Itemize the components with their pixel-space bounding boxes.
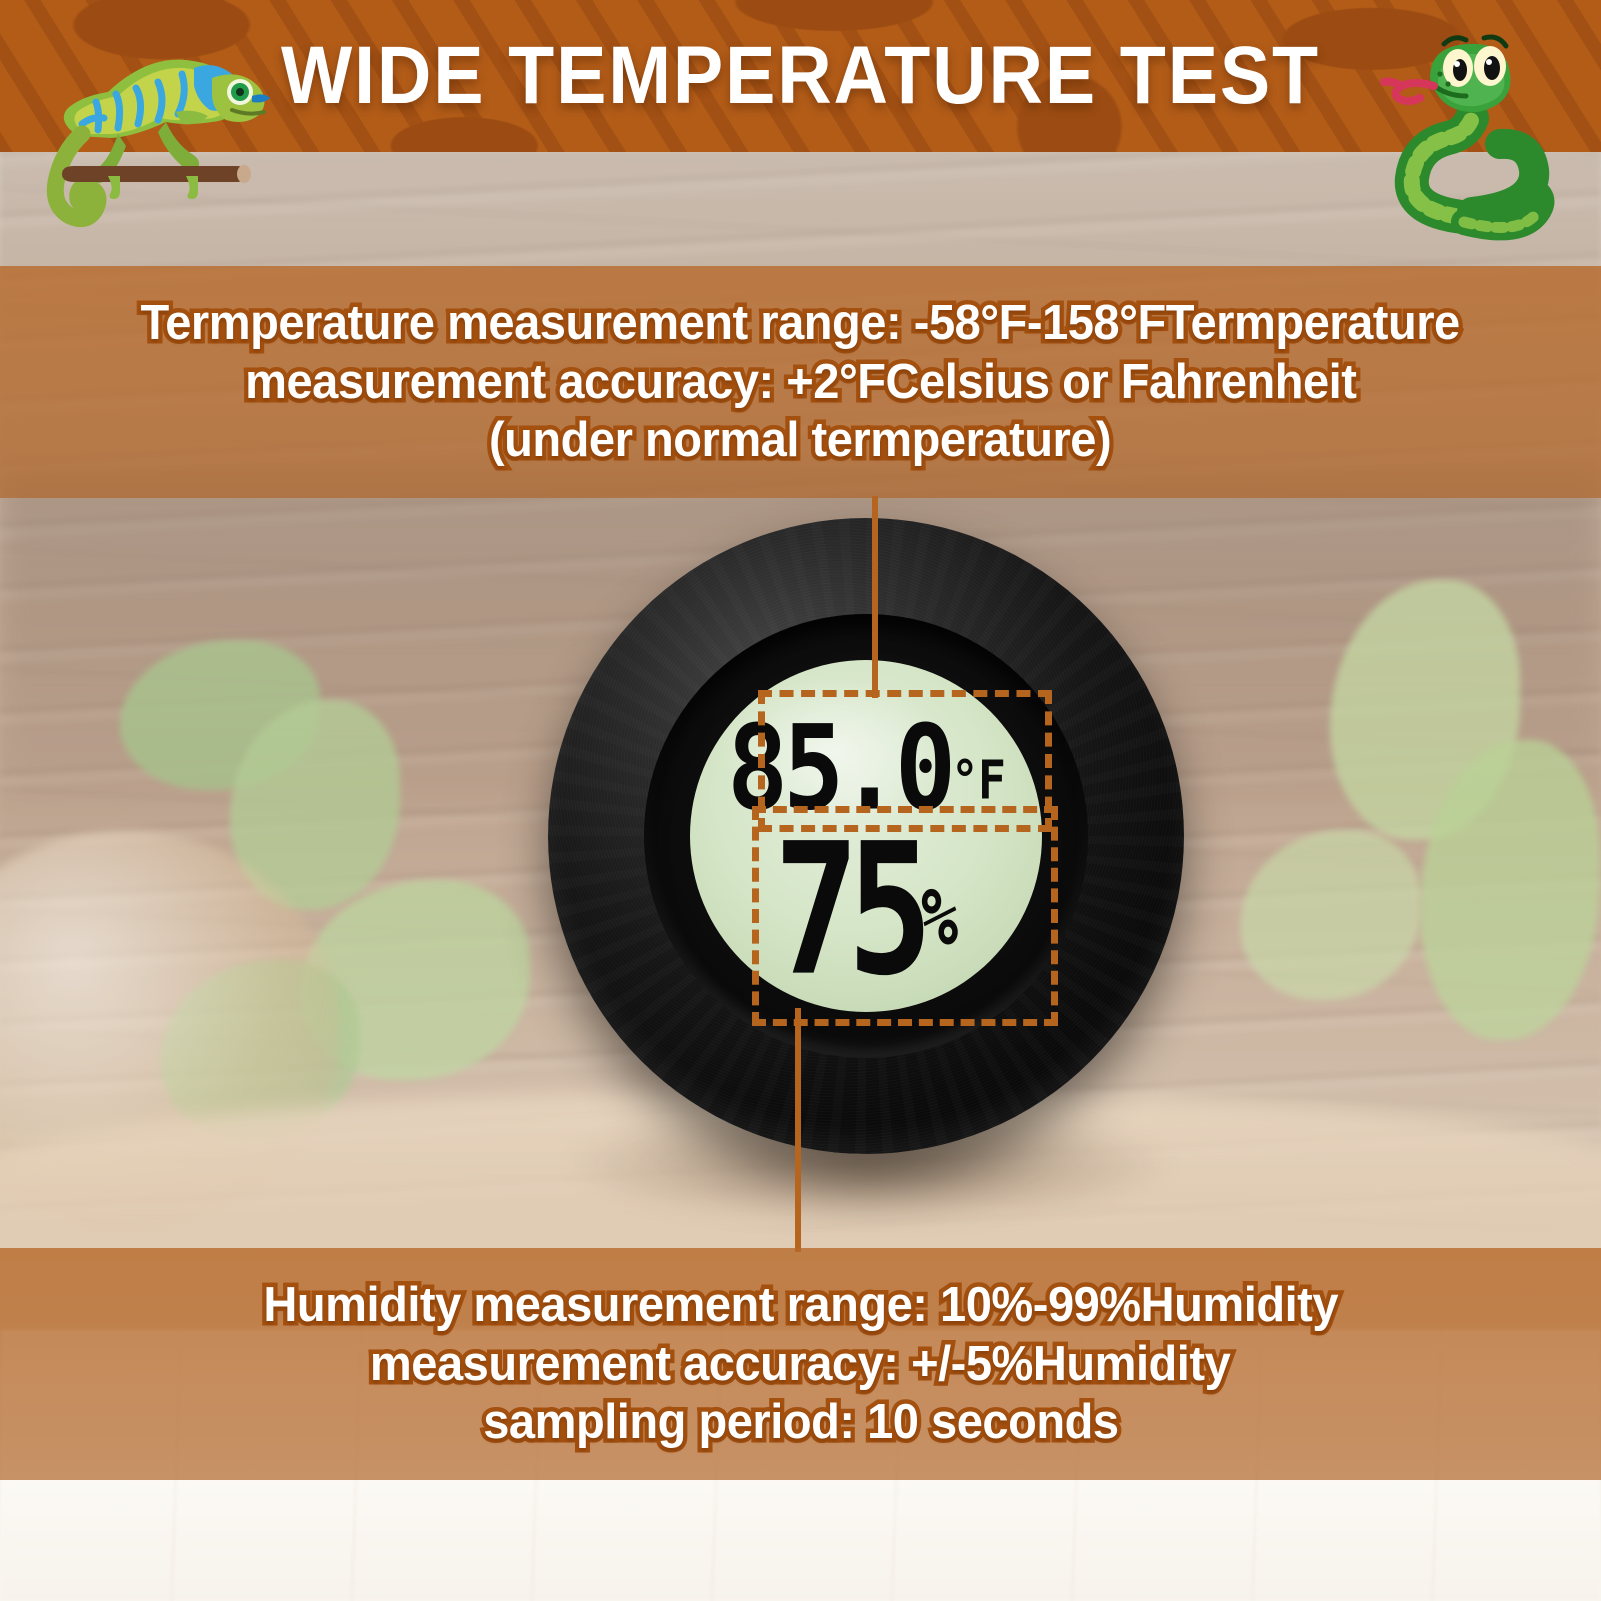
connector-line-to-humidity-text [795, 1008, 801, 1252]
infographic-page: 85.0°F 75% Termperature measurement rang… [0, 0, 1601, 1601]
humidity-spec-line-2: measurement accuracy: +/-5%Humidity [370, 1337, 1230, 1392]
humidity-readout-highlight [752, 806, 1058, 1026]
humidity-spec-band: Humidity measurement range: 10%-99%Humid… [0, 1248, 1601, 1480]
page-title: WIDE TEMPERATURE TEST [64, 0, 1537, 152]
temperature-spec-line-1: Termperature measurement range: -58°F-15… [141, 296, 1460, 351]
temperature-spec-line-2: measurement accuracy: +2°FCelsius or Fah… [245, 355, 1356, 410]
humidity-spec-line-3: sampling period: 10 seconds [483, 1395, 1118, 1450]
temperature-spec-band: Termperature measurement range: -58°F-15… [0, 266, 1601, 498]
connector-line-to-temperature-text [872, 496, 878, 698]
temperature-spec-line-3: (under normal termperature) [489, 413, 1111, 468]
chameleon-icon [26, 16, 276, 231]
humidity-spec-line-1: Humidity measurement range: 10%-99%Humid… [263, 1278, 1338, 1333]
snake-icon [1368, 22, 1583, 252]
